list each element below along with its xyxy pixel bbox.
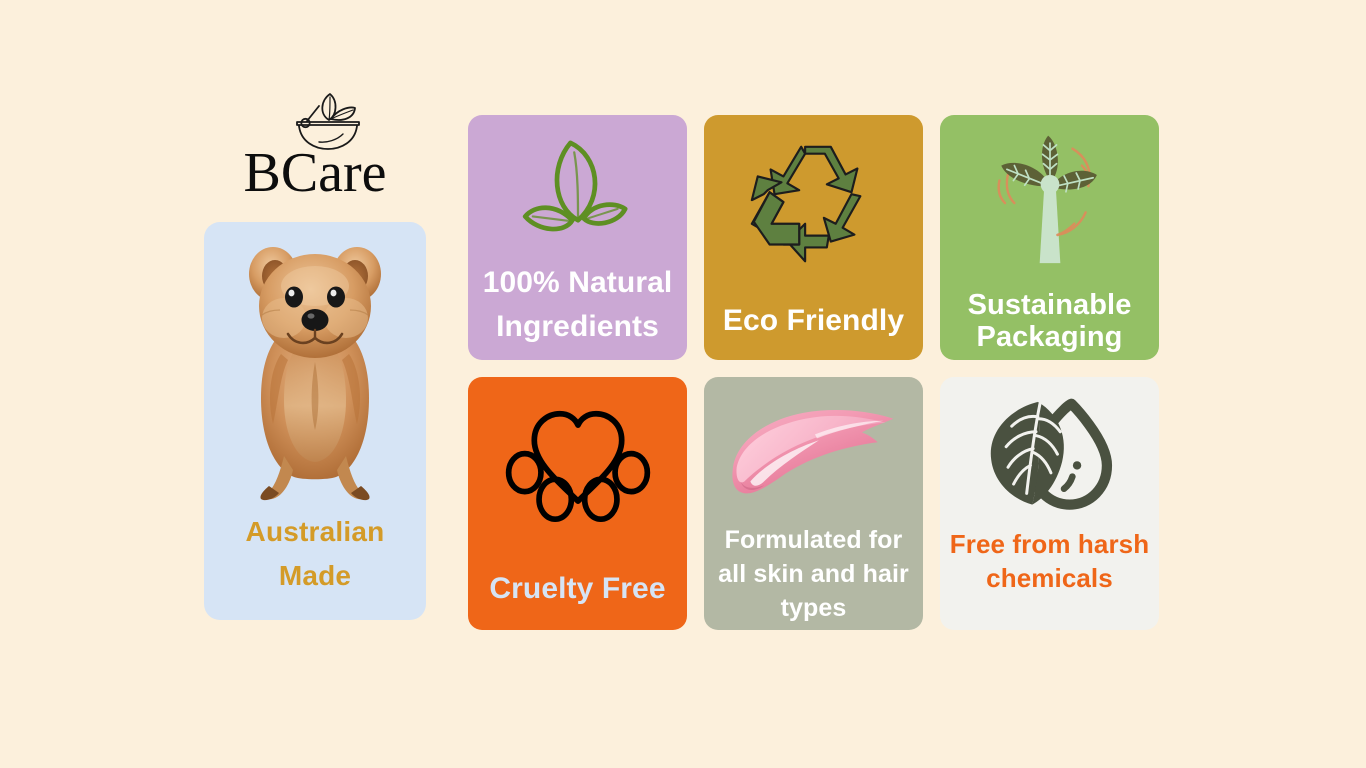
badge-natural-ingredients[interactable]: 100% Natural Ingredients [468, 115, 687, 360]
quokka-illustration [236, 234, 394, 504]
wind-turbine-leaf-icon [940, 129, 1159, 279]
leaf-sprout-icon [468, 123, 687, 259]
brand-logo[interactable]: BCare [204, 92, 426, 222]
badge-formulated-all-types-label: Formulated for all skin and hair types [704, 523, 923, 625]
badge-eco-friendly-label: Eco Friendly [704, 299, 923, 343]
pink-cream-swatch-icon [704, 389, 923, 517]
badge-formulated-all-types[interactable]: Formulated for all skin and hair types [704, 377, 923, 630]
badge-natural-ingredients-label: 100% Natural Ingredients [468, 261, 687, 349]
paw-heart-icon [468, 391, 687, 541]
badge-free-from-harsh-chemicals[interactable]: Free from harsh chemicals [940, 377, 1159, 630]
badge-australian-made[interactable]: Australian Made [204, 222, 426, 620]
leaf-water-droplet-icon [940, 391, 1159, 523]
brand-column: BCare [204, 92, 426, 620]
page-root: BCare [0, 0, 1366, 768]
badge-australian-made-label: Australian Made [220, 510, 410, 598]
recycling-arrows-icon [704, 127, 923, 287]
badge-cruelty-free-label: Cruelty Free [468, 567, 687, 611]
badge-sustainable-packaging-label: Sustainable Packaging [940, 289, 1159, 353]
badge-grid: 100% Natural Ingredients [468, 115, 1159, 630]
badge-eco-friendly[interactable]: Eco Friendly [704, 115, 923, 360]
badge-sustainable-packaging[interactable]: Sustainable Packaging [940, 115, 1159, 360]
badge-free-from-harsh-chemicals-label: Free from harsh chemicals [940, 527, 1159, 595]
brand-wordmark: BCare [243, 144, 386, 202]
badge-cruelty-free[interactable]: Cruelty Free [468, 377, 687, 630]
